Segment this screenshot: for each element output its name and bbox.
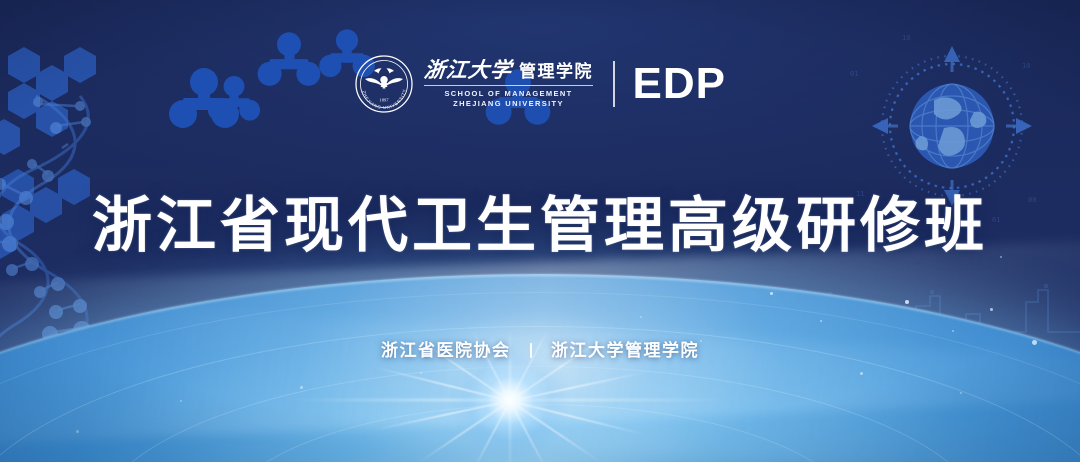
seal-year: 1897: [380, 98, 390, 103]
logo-en-line1: SCHOOL OF MANAGEMENT: [424, 89, 593, 99]
edp-mark: EDP: [633, 62, 726, 106]
logo-lockup: 1897 ZHEJIANG UNIVERSITY 浙江大学 管理学院 SCHOO…: [0, 54, 1080, 114]
event-banner: 0110 1100 1001: [0, 0, 1080, 462]
logo-cn-script: 浙江大学: [423, 60, 513, 81]
subtitle-co-organizer: 浙江大学管理学院: [551, 341, 699, 360]
logo-wordmark: 浙江大学 管理学院 SCHOOL OF MANAGEMENT ZHEJIANG …: [424, 57, 593, 111]
subtitle-separator: [530, 343, 532, 358]
subtitle-organizer: 浙江省医院协会: [381, 341, 511, 360]
zhejiang-university-seal-icon: 1897 ZHEJIANG UNIVERSITY: [354, 54, 414, 114]
logo-divider: [613, 61, 615, 107]
logo-cn-bold: 管理学院: [519, 63, 593, 81]
logo-en-line2: ZHEJIANG UNIVERSITY: [424, 99, 593, 109]
page-title: 浙江省现代卫生管理高级研修班: [0, 192, 1080, 259]
subtitle: 浙江省医院协会 浙江大学管理学院: [0, 336, 1080, 361]
